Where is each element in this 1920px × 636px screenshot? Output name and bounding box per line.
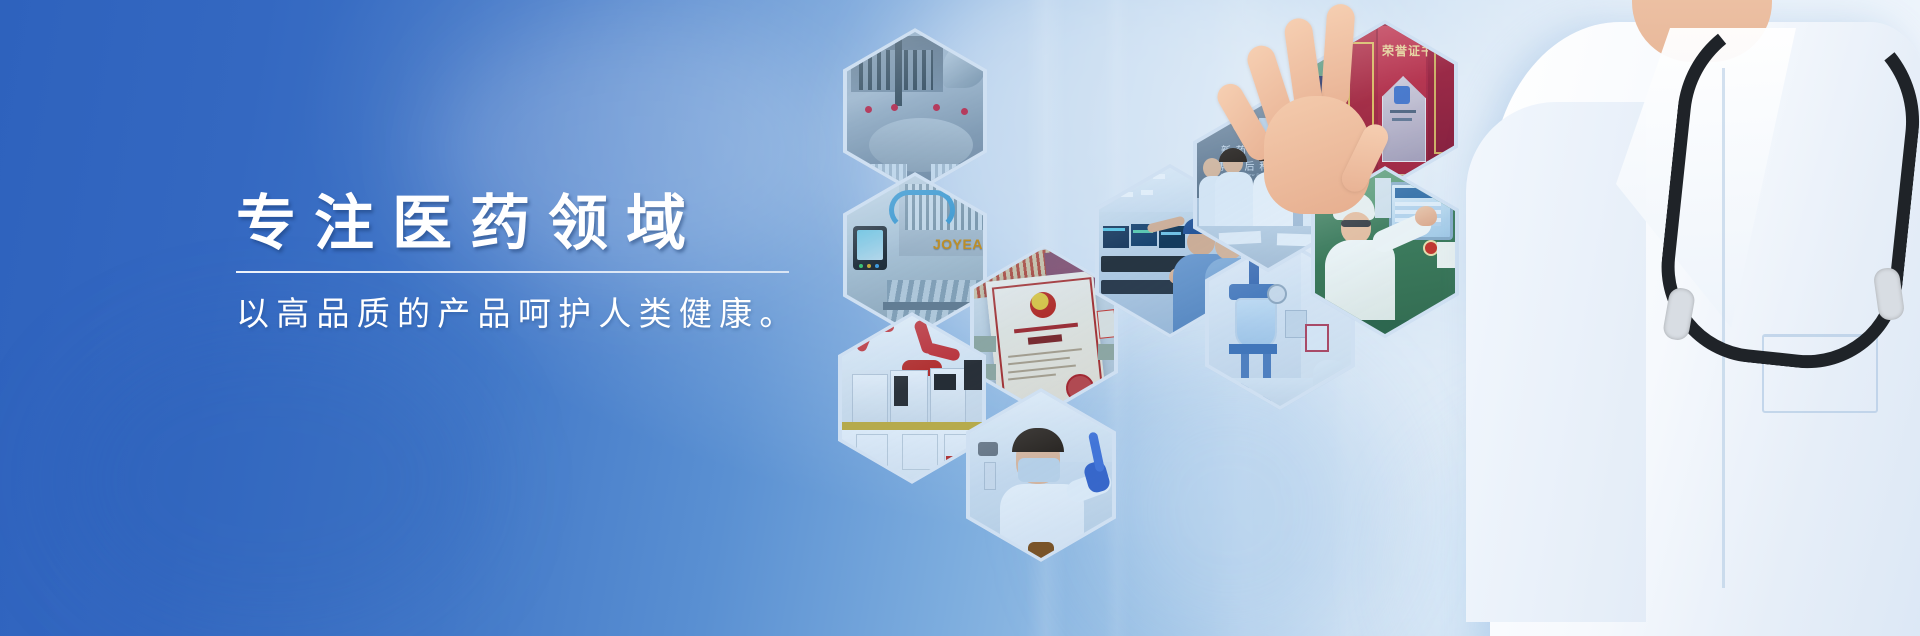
- hex-capsule-filling-machine[interactable]: [843, 28, 987, 194]
- hex-blister-packaging-line[interactable]: JOYEA: [843, 172, 987, 338]
- doctor-figure: [1370, 0, 1920, 636]
- open-hand: [1228, 4, 1448, 234]
- hex-analytical-lab[interactable]: [838, 312, 986, 484]
- hex-lab-technician-pipette[interactable]: [966, 388, 1116, 562]
- hero-banner: 专注医药领域 以高品质的产品呵护人类健康。: [0, 0, 1920, 636]
